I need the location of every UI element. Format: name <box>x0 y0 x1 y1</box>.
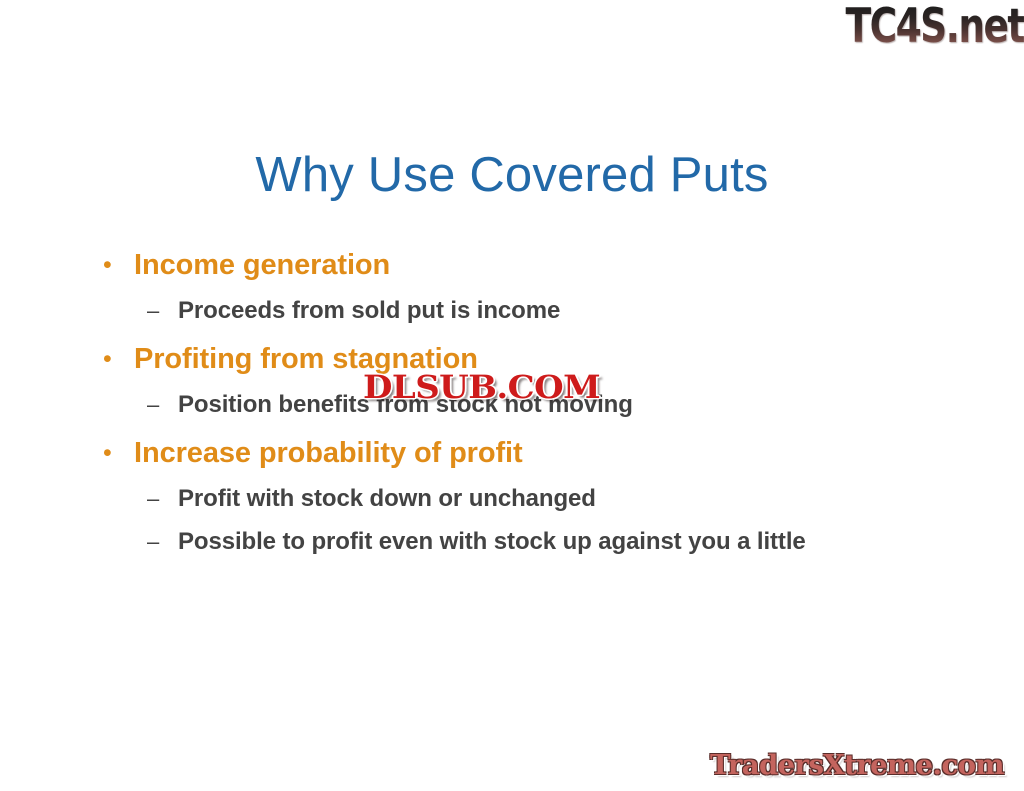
watermark-overlay: DLSUB.COM <box>363 368 600 406</box>
bullet-level2: – Proceeds from sold put is income <box>96 290 976 331</box>
bullet-level1-label: Increase probability of profit <box>134 431 523 476</box>
header-brand-logo: TC4S.net <box>846 2 1024 52</box>
bullet-level1: • Income generation <box>96 243 976 288</box>
bullet-level2: – Profit with stock down or unchanged <box>96 478 976 519</box>
bullet-level1: • Increase probability of profit <box>96 431 976 476</box>
bullet-dash-icon: – <box>96 478 178 519</box>
bullet-group: • Increase probability of profit – Profi… <box>96 431 976 562</box>
bullet-level2-label: Proceeds from sold put is income <box>178 290 560 331</box>
bullet-level2: – Possible to profit even with stock up … <box>96 521 976 562</box>
bullet-dash-icon: – <box>96 521 178 562</box>
bullet-group: • Income generation – Proceeds from sold… <box>96 243 976 331</box>
bullet-level2-label: Profit with stock down or unchanged <box>178 478 596 519</box>
bullet-dash-icon: – <box>96 290 178 331</box>
footer-brand-logo: TradersXtreme.com <box>710 748 1004 784</box>
slide-title: Why Use Covered Puts <box>0 145 1024 205</box>
presentation-slide: TC4S.net Why Use Covered Puts • Income g… <box>0 0 1024 791</box>
bullet-dash-icon: – <box>96 384 178 425</box>
bullet-level1-label: Income generation <box>134 243 390 288</box>
bullet-dot-icon: • <box>96 431 134 476</box>
bullet-dot-icon: • <box>96 337 134 382</box>
bullet-dot-icon: • <box>96 243 134 288</box>
bullet-level2-label: Possible to profit even with stock up ag… <box>178 521 806 562</box>
